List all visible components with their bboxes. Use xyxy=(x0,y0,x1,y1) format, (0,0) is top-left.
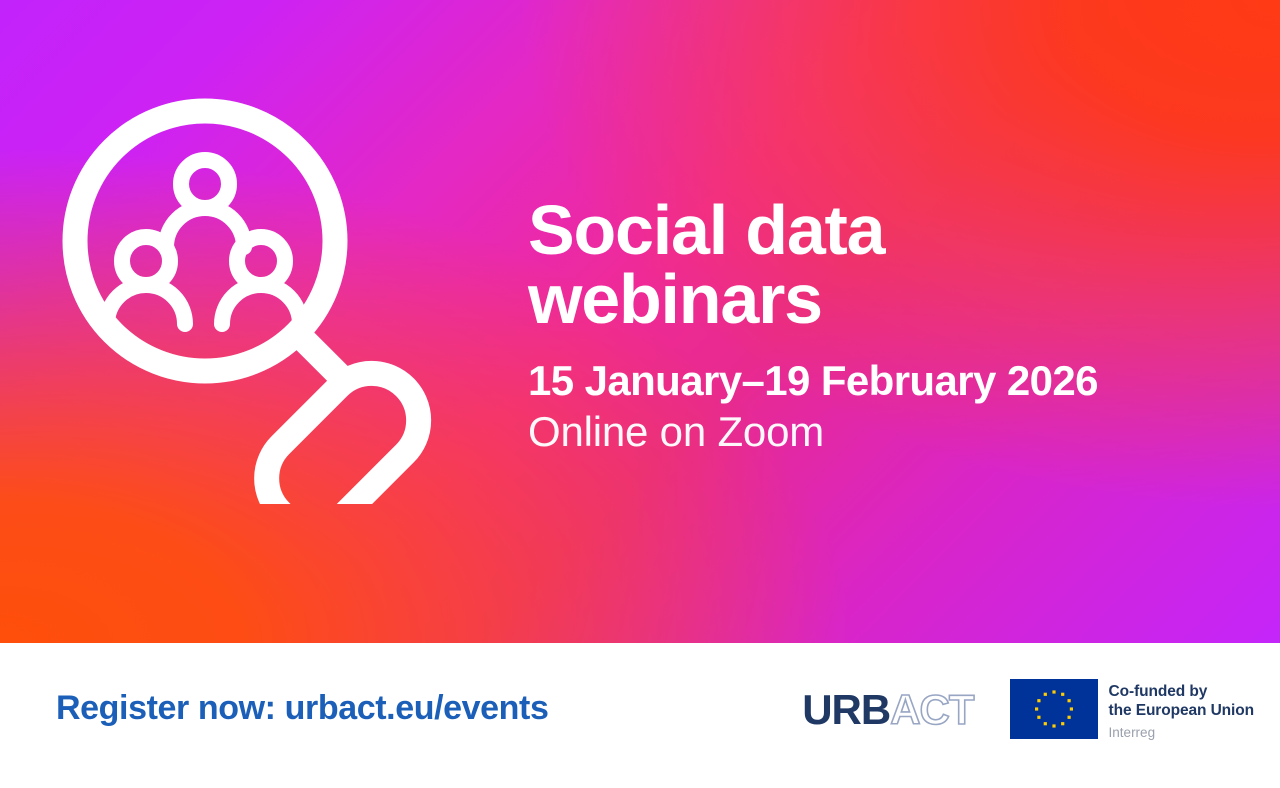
eu-emblem-text: Co-funded by the European Union Interreg xyxy=(1109,679,1254,742)
urbact-logo: URBACT xyxy=(802,689,973,731)
hero-gradient-area: Social data webinars 15 January–19 Febru… xyxy=(0,0,1280,643)
eu-cofunded-line-2: the European Union xyxy=(1109,701,1254,720)
hero-text-block: Social data webinars 15 January–19 Febru… xyxy=(528,196,1228,455)
event-location: Online on Zoom xyxy=(528,408,1228,455)
person-glyph-right xyxy=(222,237,300,324)
footer-bar: Register now: urbact.eu/events URBACT xyxy=(0,643,1280,788)
interreg-label: Interreg xyxy=(1109,724,1254,742)
person-glyph-left xyxy=(107,237,185,324)
person-glyph-top xyxy=(166,160,244,247)
page-title: Social data webinars xyxy=(528,196,1228,335)
event-dates: 15 January–19 February 2026 xyxy=(528,357,1228,404)
logo-group: URBACT xyxy=(802,679,1254,742)
urbact-logo-outline: ACT xyxy=(890,689,973,731)
magnifier-people-icon xyxy=(48,84,468,504)
urbact-logo-solid: URB xyxy=(802,689,890,731)
promotional-banner: Social data webinars 15 January–19 Febru… xyxy=(0,0,1280,788)
eu-cofunding-emblem: Co-funded by the European Union Interreg xyxy=(1010,679,1254,742)
eu-cofunded-line-1: Co-funded by xyxy=(1109,682,1254,701)
eu-flag-icon xyxy=(1010,679,1098,739)
register-call-to-action[interactable]: Register now: urbact.eu/events xyxy=(56,689,548,728)
